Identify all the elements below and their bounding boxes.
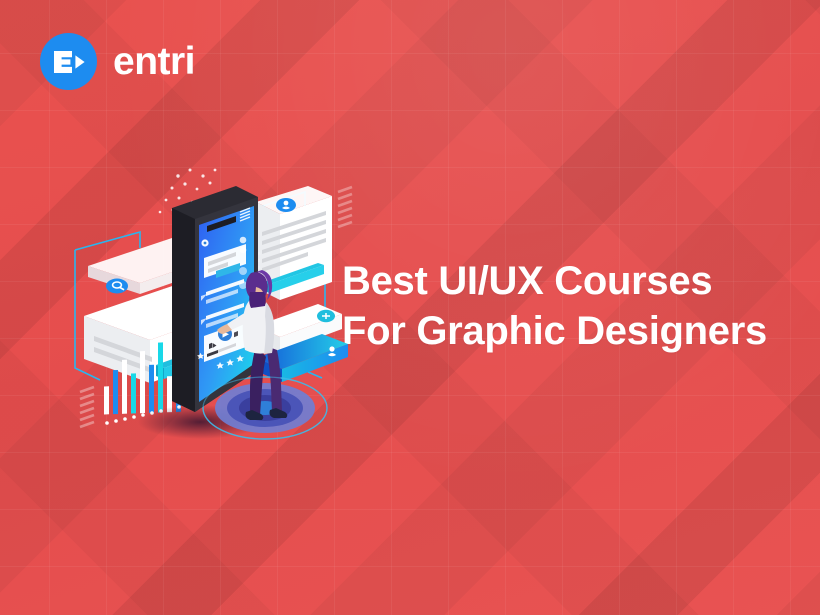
hero-illustration (60, 140, 360, 450)
page-title: Best UI/UX Courses For Graphic Designers (342, 256, 767, 356)
entri-e-play-icon (52, 48, 86, 76)
promo-banner: entri Best UI/UX Courses For Graphic Des… (0, 0, 820, 615)
search-icon (106, 279, 128, 294)
floating-card-right-profile (256, 186, 332, 300)
hatch-texture-right (338, 187, 352, 227)
headline-line-1: Best UI/UX Courses (342, 259, 712, 303)
headline-line-2: For Graphic Designers (342, 306, 767, 356)
entri-wordmark: entri (113, 42, 195, 81)
brand-logo[interactable]: entri (40, 33, 195, 90)
entri-logo-mark (40, 33, 97, 90)
hatch-texture-left (80, 387, 94, 427)
